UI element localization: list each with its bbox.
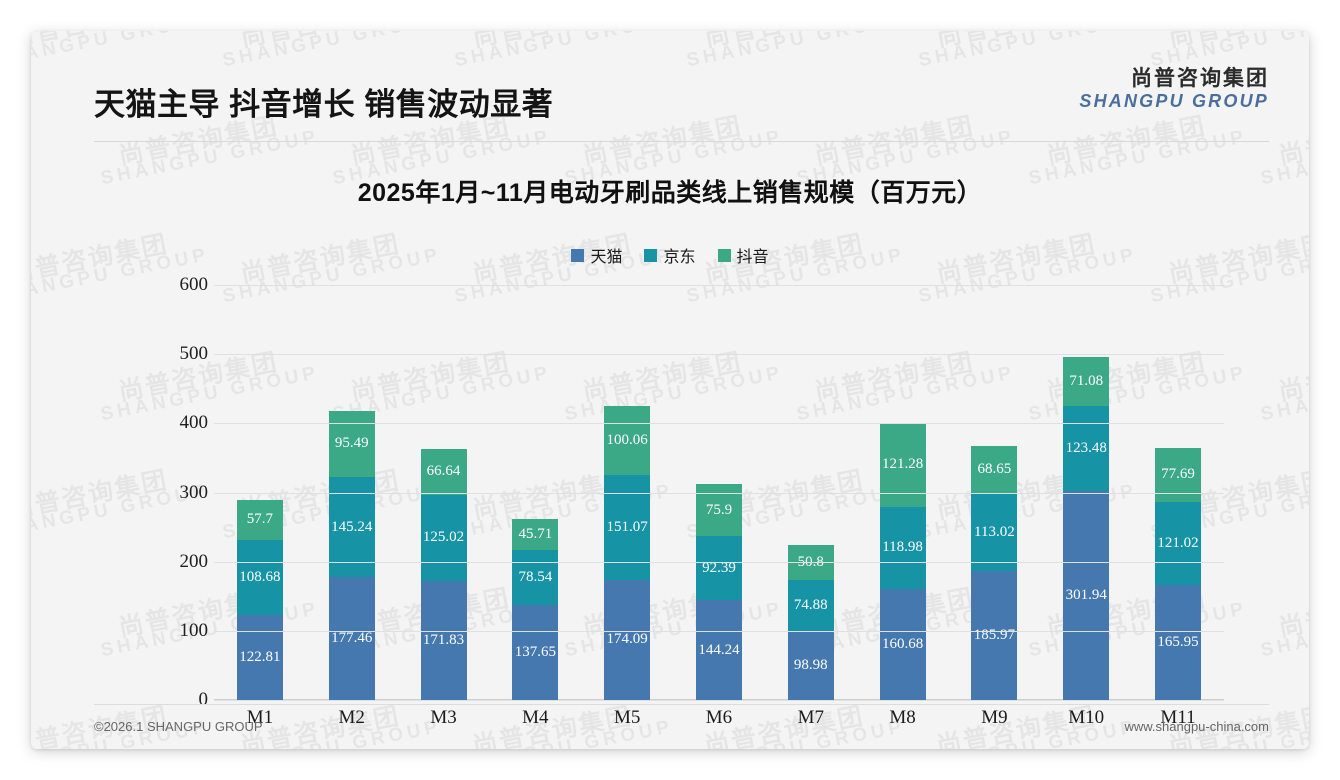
bar-value-label: 74.88 [794, 597, 828, 614]
bar-value-label: 77.69 [1161, 466, 1195, 483]
bar-value-label: 71.08 [1069, 373, 1103, 390]
bar-value-label: 118.98 [882, 539, 923, 556]
gridline [214, 493, 1224, 494]
bar-value-label: 125.02 [423, 529, 464, 546]
company-logo: 尚普咨询集团 SHANGPU GROUP [1079, 67, 1269, 112]
bar-segment-天猫[interactable]: 185.97 [971, 571, 1017, 700]
bar-segment-抖音[interactable]: 71.08 [1063, 357, 1109, 406]
legend-label: 京东 [663, 243, 695, 267]
bar-value-label: 171.83 [423, 632, 464, 649]
legend-label: 抖音 [737, 243, 769, 267]
slide-footer: ©2026.1 SHANGPU GROUP www.shangpu-china.… [94, 719, 1269, 734]
legend-swatch-icon [644, 249, 657, 262]
chart-legend: 天猫京东抖音 [31, 243, 1309, 267]
bar-value-label: 66.64 [427, 463, 461, 480]
bar-value-label: 75.9 [706, 502, 732, 519]
bar-value-label: 137.65 [515, 644, 556, 661]
watermark-text: 尚普咨询集团SHANGPU GROUP [1239, 579, 1309, 664]
watermark-text: 尚普咨询集团SHANGPU GROUP [1239, 343, 1309, 428]
bar-segment-天猫[interactable]: 160.68 [880, 589, 926, 700]
slide-card: 尚普咨询集团SHANGPU GROUP尚普咨询集团SHANGPU GROUP尚普… [31, 31, 1309, 749]
gridline [214, 285, 1224, 286]
bar-segment-京东[interactable]: 125.02 [421, 495, 467, 581]
bar-segment-天猫[interactable]: 137.65 [512, 605, 558, 700]
y-axis-tick-label: 300 [162, 482, 208, 504]
slide-header: 天猫主导 抖音增长 销售波动显著 尚普咨询集团 SHANGPU GROUP [31, 31, 1309, 131]
legend-label: 天猫 [590, 243, 622, 267]
legend-item-3[interactable]: 抖音 [718, 243, 769, 267]
bar-value-label: 108.68 [239, 569, 280, 586]
bar-value-label: 177.46 [331, 630, 372, 647]
bar-value-label: 121.28 [882, 456, 923, 473]
bar-segment-抖音[interactable]: 68.65 [971, 446, 1017, 493]
bar-value-label: 174.09 [607, 631, 648, 648]
bar-value-label: 151.07 [607, 519, 648, 536]
bar-segment-京东[interactable]: 113.02 [971, 493, 1017, 571]
bar-segment-抖音[interactable]: 121.28 [880, 423, 926, 507]
bar-value-label: 123.48 [1066, 440, 1107, 457]
bar-segment-天猫[interactable]: 174.09 [604, 580, 650, 700]
y-axis-tick-label: 500 [162, 343, 208, 365]
bar-segment-抖音[interactable]: 100.06 [604, 406, 650, 475]
legend-item-2[interactable]: 京东 [644, 243, 695, 267]
bar-segment-抖音[interactable]: 45.71 [512, 519, 558, 551]
bar-segment-天猫[interactable]: 171.83 [421, 581, 467, 700]
bar-segment-京东[interactable]: 118.98 [880, 507, 926, 589]
footer-website: www.shangpu-china.com [1124, 719, 1269, 734]
gridline [214, 423, 1224, 424]
bar-value-label: 45.71 [518, 526, 552, 543]
y-axis-tick-label: 200 [162, 551, 208, 573]
bar-value-label: 160.68 [882, 636, 923, 653]
footer-copyright: ©2026.1 SHANGPU GROUP [94, 719, 263, 734]
gridline [214, 562, 1224, 563]
bar-value-label: 68.65 [978, 461, 1012, 478]
header-divider [94, 141, 1269, 142]
bar-value-label: 98.98 [794, 657, 828, 674]
bar-value-label: 145.24 [331, 519, 372, 536]
bar-segment-天猫[interactable]: 98.98 [788, 632, 834, 700]
bar-segment-天猫[interactable]: 122.81 [237, 615, 283, 700]
bar-segment-京东[interactable]: 92.39 [696, 536, 742, 600]
bar-value-label: 122.81 [239, 649, 280, 666]
bar-segment-天猫[interactable]: 301.94 [1063, 491, 1109, 700]
bar-value-label: 185.97 [974, 627, 1015, 644]
y-axis-tick-label: 0 [162, 689, 208, 711]
bar-segment-京东[interactable]: 123.48 [1063, 406, 1109, 491]
gridline [214, 354, 1224, 355]
bar-segment-京东[interactable]: 74.88 [788, 580, 834, 632]
page-title: 天猫主导 抖音增长 销售波动显著 [94, 79, 553, 124]
y-axis-tick-label: 400 [162, 412, 208, 434]
bar-value-label: 113.02 [974, 524, 1015, 541]
bar-segment-天猫[interactable]: 177.46 [329, 577, 375, 700]
bar-value-label: 78.54 [518, 569, 552, 586]
bar-value-label: 301.94 [1066, 587, 1107, 604]
bar-value-label: 95.49 [335, 435, 369, 452]
bar-segment-京东[interactable]: 108.68 [237, 540, 283, 615]
bar-value-label: 57.7 [247, 511, 273, 528]
logo-english-text: SHANGPU GROUP [1079, 91, 1269, 112]
y-axis-tick-label: 100 [162, 620, 208, 642]
footer-divider [94, 704, 1269, 705]
logo-chinese-text: 尚普咨询集团 [1079, 67, 1269, 91]
legend-item-1[interactable]: 天猫 [571, 243, 622, 267]
bar-value-label: 144.24 [698, 642, 739, 659]
bar-segment-天猫[interactable]: 165.95 [1155, 585, 1201, 700]
legend-swatch-icon [718, 249, 731, 262]
bar-value-label: 121.02 [1157, 535, 1198, 552]
chart-plot-area: 57.7108.68122.8195.49145.24177.4666.6412… [176, 285, 1224, 700]
bar-segment-天猫[interactable]: 144.24 [696, 600, 742, 700]
bar-segment-京东[interactable]: 121.02 [1155, 502, 1201, 586]
bar-segment-京东[interactable]: 78.54 [512, 550, 558, 604]
bar-value-label: 165.95 [1157, 634, 1198, 651]
bar-segment-抖音[interactable]: 95.49 [329, 411, 375, 477]
legend-swatch-icon [571, 249, 584, 262]
bar-segment-京东[interactable]: 151.07 [604, 475, 650, 579]
gridline [214, 631, 1224, 632]
gridline [214, 700, 1224, 701]
bar-segment-抖音[interactable]: 66.64 [421, 449, 467, 495]
chart-title: 2025年1月~11月电动牙刷品类线上销售规模（百万元） [31, 173, 1309, 209]
bar-segment-抖音[interactable]: 57.7 [237, 500, 283, 540]
bar-value-label: 100.06 [607, 432, 648, 449]
y-axis-tick-label: 600 [162, 274, 208, 296]
